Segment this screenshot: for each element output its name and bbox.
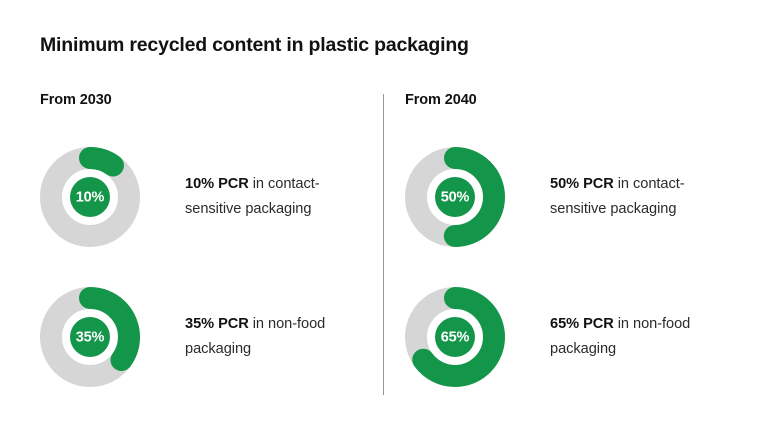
donut-svg: 65% [405,287,505,387]
column-divider [383,94,384,395]
gauge-label: 65% PCR in non-food packaging [550,312,735,362]
gauge-label-strong: 10% PCR [185,176,249,192]
gauge-row: 35% 35% PCR in non-food packaging [40,287,370,387]
gauge-label-strong: 50% PCR [550,176,614,192]
gauge-label-strong: 35% PCR [185,316,249,332]
donut-chart-10: 10% [40,147,140,247]
gauge-row: 65% 65% PCR in non-food packaging [405,287,735,387]
donut-value-text: 50% [441,190,470,206]
donut-value-text: 35% [76,330,105,346]
gauge-row: 50% 50% PCR in contact-sensitive packagi… [405,147,735,247]
column-header-2030: From 2030 [40,92,112,114]
donut-value-text: 65% [441,330,470,346]
column-header-2040: From 2040 [405,92,477,114]
gauge-label-strong: 65% PCR [550,316,614,332]
gauge-label: 10% PCR in contact-sensitive packaging [185,172,370,222]
gauge-label: 50% PCR in contact-sensitive packaging [550,172,735,222]
donut-svg: 50% [405,147,505,247]
page-title: Minimum recycled content in plastic pack… [40,34,469,57]
donut-svg: 10% [40,147,140,247]
donut-chart-35: 35% [40,287,140,387]
column-from-2030: From 2030 10% 10% PCR in contact-sensiti… [40,92,112,114]
donut-svg: 35% [40,287,140,387]
column-from-2040: From 2040 50% 50% PCR in contact-sensiti… [405,92,477,114]
gauge-label: 35% PCR in non-food packaging [185,312,370,362]
donut-chart-65: 65% [405,287,505,387]
gauge-row: 10% 10% PCR in contact-sensitive packagi… [40,147,370,247]
donut-value-text: 10% [76,190,105,206]
donut-chart-50: 50% [405,147,505,247]
